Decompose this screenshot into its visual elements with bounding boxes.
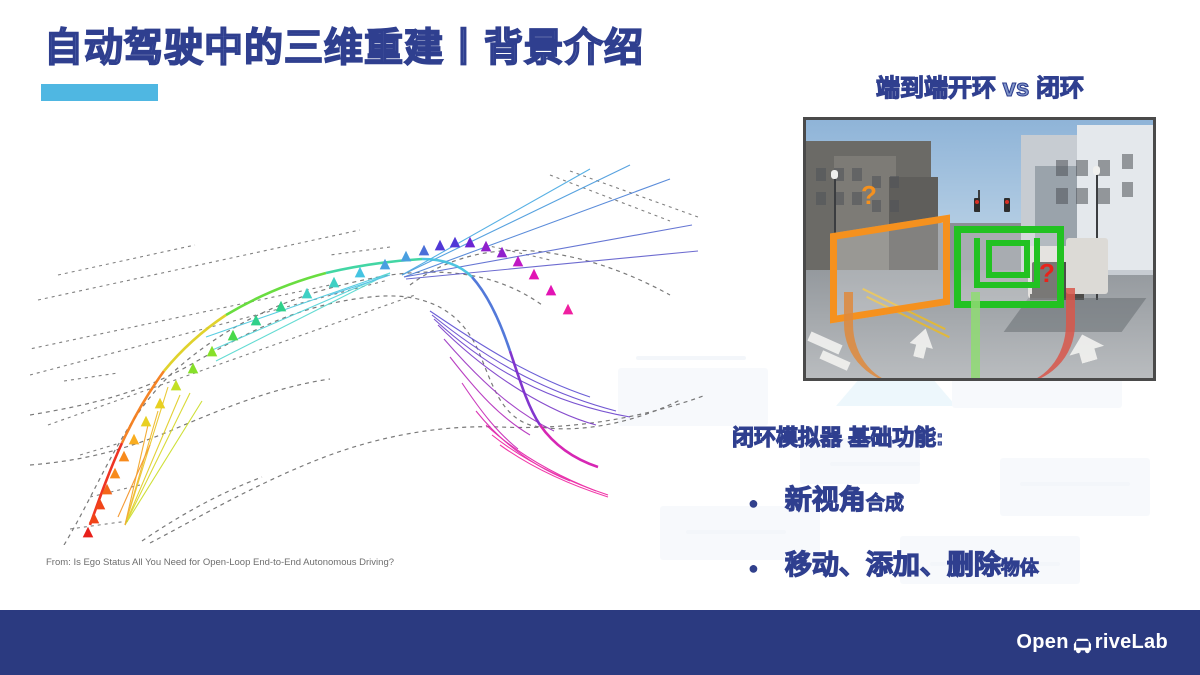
waypoint-marker: [302, 288, 313, 299]
green-annotation-inner2: [986, 240, 1030, 278]
waypoint-marker: [228, 330, 239, 341]
road-edges: [30, 250, 706, 545]
title-accent-bar: [41, 84, 158, 101]
logo-text-pre: Open: [1016, 631, 1068, 654]
waypoint-marker: [251, 315, 262, 326]
source-caption: From: Is Ego Status All You Need for Ope…: [46, 557, 394, 568]
waypoint-marker: [141, 416, 152, 427]
driving-scene-image: ? ?: [803, 117, 1156, 381]
list-item-tail: 物体: [1001, 553, 1039, 580]
features-block-title: 闭环模拟器 基础功能:: [732, 420, 943, 452]
waypoint-marker: [171, 380, 182, 391]
waypoint-marker: [481, 241, 492, 252]
waypoint-marker: [83, 527, 94, 538]
prediction-modes: [118, 165, 698, 525]
slide-root: 自动驾驶中的三维重建丨背景介绍 端到端开环 vs 闭环: [0, 0, 1200, 675]
waypoint-marker: [355, 267, 366, 278]
waypoint-marker: [129, 434, 140, 445]
list-item: ● 移动、添加、删除 物体: [748, 543, 1039, 582]
waypoint-marker: [188, 363, 199, 374]
waypoint-marker: [546, 285, 557, 296]
waypoint-marker: [207, 346, 218, 357]
right-section-header: 端到端开环 vs 闭环: [780, 68, 1180, 103]
waypoint-marker: [89, 513, 100, 524]
lane-boundaries: [30, 171, 698, 529]
waypoint-marker: [435, 240, 446, 251]
list-item-main: 移动、添加、删除: [785, 543, 1001, 582]
bullet-dot: ●: [748, 493, 759, 514]
waypoint-marker: [119, 451, 130, 462]
bullet-dot: ●: [748, 558, 759, 579]
logo-text-post: riveLab: [1095, 631, 1168, 654]
orange-question-icon: ?: [861, 182, 877, 208]
waypoint-marker: [563, 304, 574, 315]
green-path-overlay: [971, 292, 980, 378]
waypoint-marker: [497, 247, 508, 258]
brand-logo: Open riveLab: [1016, 631, 1168, 654]
trajectory-plot: [30, 125, 710, 545]
waypoint-marker: [529, 269, 540, 280]
waypoint-marker: [401, 251, 412, 262]
waypoint-marker: [450, 237, 461, 248]
waypoint-marker: [329, 277, 340, 288]
list-item-main: 新视角: [785, 478, 866, 517]
red-question-icon: ?: [1039, 260, 1055, 286]
waypoint-marker: [419, 245, 430, 256]
car-icon: [1070, 636, 1094, 654]
list-item: ● 新视角 合成: [748, 478, 904, 517]
page-title: 自动驾驶中的三维重建丨背景介绍: [44, 17, 644, 73]
list-item-tail: 合成: [866, 488, 904, 515]
